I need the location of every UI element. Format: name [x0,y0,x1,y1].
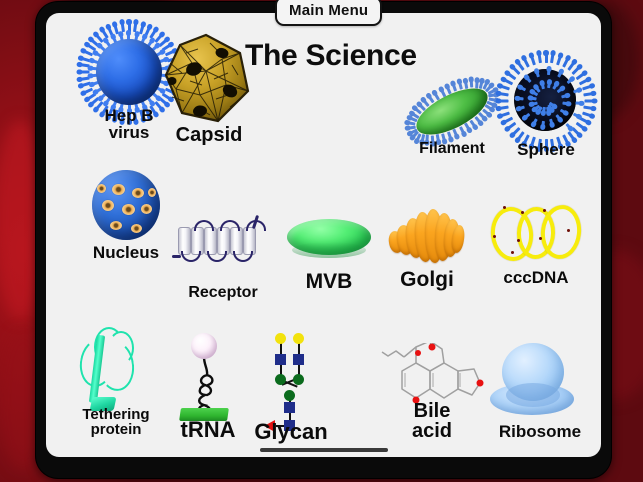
filamentous-particle-icon [404,69,500,147]
tile-label: Nucleus [84,244,168,261]
spike [525,77,531,84]
spike [560,108,567,114]
spike [556,114,562,121]
spike [475,80,478,88]
tile-label: Ribosome [488,423,592,440]
page-title: The Science [245,39,417,73]
spike [557,71,562,78]
ribosome-icon [488,339,592,423]
spike [532,118,538,125]
tile-label: Golgi [381,269,473,290]
spike [557,87,564,93]
spike [453,129,459,138]
spike [550,119,554,126]
spike [552,83,558,90]
tile-label: Tethering protein [64,407,168,438]
tile-label: Filament [404,141,500,157]
spike [519,106,526,111]
spike [541,120,545,126]
spike [547,82,551,88]
spike [566,78,573,84]
membrane-receptor-icon [170,203,276,279]
spike [464,80,468,88]
transfer-rna-icon [164,331,252,425]
spike [517,97,523,101]
tile-label: Sphere [498,141,594,158]
spike [561,94,568,98]
tile-sphere[interactable]: Sphere [498,53,594,161]
home-indicator[interactable] [260,448,388,452]
tile-golgi[interactable]: Golgi [381,195,473,311]
tile-label: MVB [283,271,375,292]
tile-tethering-protein[interactable]: Tethering protein [64,321,168,447]
tile-receptor[interactable]: Receptor [170,203,276,315]
spike [470,80,474,88]
spike [542,107,546,113]
tile-label: Glycan [246,421,336,443]
tile-label: cccDNA [481,269,591,286]
spike [573,89,580,94]
spike [573,113,580,118]
spike [447,131,452,140]
golgi-apparatus-icon [381,195,473,273]
spike [547,69,550,75]
tile-label: Capsid [156,125,262,145]
spike [519,86,526,91]
tile-trna[interactable]: tRNA [164,331,252,451]
spike [524,113,531,119]
tablet-bezel: The Science Hep B virus [36,2,611,478]
spike [546,106,550,112]
cell-nucleus-icon [84,166,168,244]
spike [566,123,572,129]
tethering-protein-icon [64,321,168,415]
spike [540,83,544,90]
spike [530,97,536,101]
spike [562,102,568,106]
tile-ribosome[interactable]: Ribosome [488,339,592,457]
tablet-screen: The Science Hep B virus [46,13,601,457]
spike [575,101,581,104]
tile-label: Receptor [170,285,276,301]
spherical-subviral-particle-icon [498,53,594,149]
tile-filament[interactable]: Filament [404,69,500,161]
circular-dna-rings-icon [481,195,591,273]
multivesicular-body-icon [283,199,375,275]
spike [464,123,471,131]
spike [535,71,540,78]
tile-label: tRNA [164,419,252,441]
tile-cccdna[interactable]: cccDNA [481,195,591,311]
glycan-snfg-icon [246,331,336,427]
spike [458,126,464,134]
tile-nucleus[interactable]: Nucleus [84,166,168,274]
tile-label: Bile acid [376,401,488,442]
app-root: The Science Hep B virus [0,0,643,482]
tile-glycan[interactable]: Glycan [246,331,336,451]
tile-mvb[interactable]: MVB [283,199,375,311]
tile-bile-acid[interactable]: Bile acid [376,343,488,455]
main-menu-button[interactable]: Main Menu [275,0,382,26]
